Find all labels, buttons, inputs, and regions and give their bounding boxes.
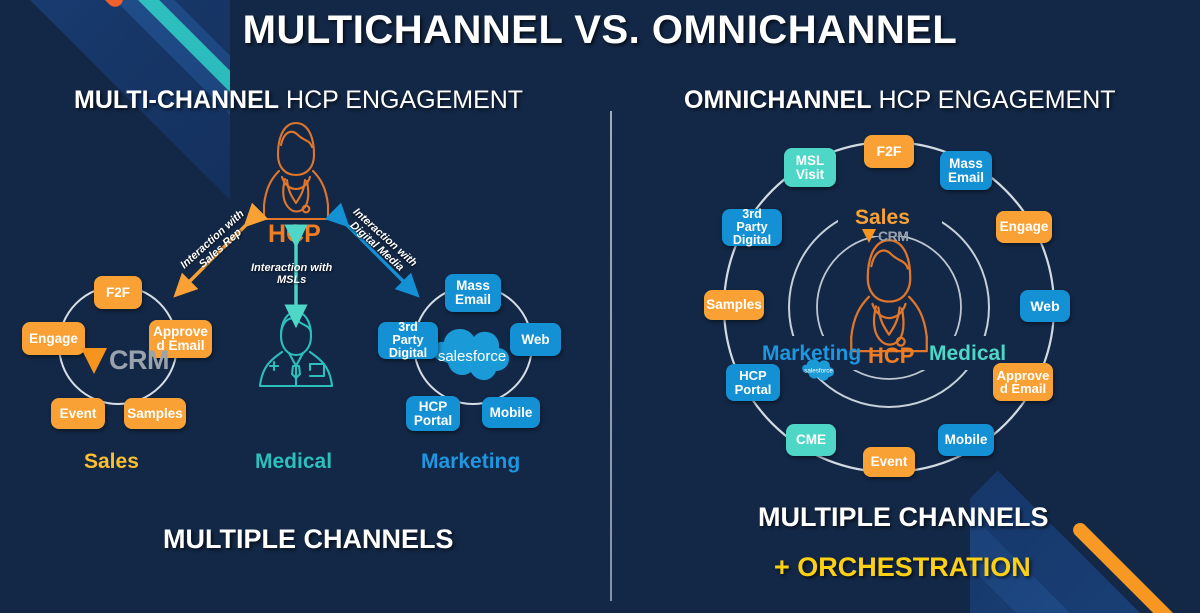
omni-badge-f2f[interactable]: F2F bbox=[864, 135, 914, 168]
left-heading-light: HCP ENGAGEMENT bbox=[279, 86, 523, 114]
veeva-v-mark-icon bbox=[81, 348, 107, 374]
omni-badge-approved-email[interactable]: Approve d Email bbox=[993, 363, 1053, 401]
salesforce-wordmark: salesforce bbox=[804, 368, 833, 375]
right-bottom-statement-line2: + ORCHESTRATION bbox=[774, 552, 1031, 583]
slide-canvas: MULTICHANNEL VS. OMNICHANNEL MULTI-CHANN… bbox=[0, 0, 1200, 613]
panel-divider bbox=[610, 111, 612, 601]
badge-marketing-mobile[interactable]: Mobile bbox=[482, 397, 540, 428]
veeva-crm-logo: CRM bbox=[862, 228, 908, 244]
badge-sales-samples[interactable]: Samples bbox=[124, 398, 186, 429]
badge-marketing-hcp-portal[interactable]: HCP Portal bbox=[406, 396, 460, 431]
omni-badge-cme[interactable]: CME bbox=[786, 424, 836, 456]
female-doctor-outline-icon bbox=[851, 240, 927, 351]
omni-badge-mass-email[interactable]: Mass Email bbox=[940, 151, 992, 190]
female-doctor-outline-icon bbox=[264, 123, 328, 219]
omni-badge-mobile[interactable]: Mobile bbox=[938, 424, 994, 456]
badge-sales-f2f[interactable]: F2F bbox=[94, 276, 142, 309]
veeva-v-mark-icon bbox=[862, 229, 876, 243]
right-heading-strong: OMNICHANNEL bbox=[684, 86, 872, 114]
badge-sales-engage[interactable]: Engage bbox=[22, 322, 85, 355]
right-medical-label: Medical bbox=[929, 342, 1006, 366]
caption-medical: Medical bbox=[255, 450, 332, 474]
caption-sales: Sales bbox=[84, 450, 139, 474]
right-panel-heading: OMNICHANNEL HCP ENGAGEMENT bbox=[684, 86, 1116, 115]
badge-marketing-3rd-party-digital[interactable]: 3rd Party Digital bbox=[378, 322, 438, 359]
omni-badge-3rd-party-digital[interactable]: 3rd Party Digital bbox=[722, 209, 782, 246]
right-bottom-statement-line1: MULTIPLE CHANNELS bbox=[758, 502, 1049, 533]
left-panel-heading: MULTI-CHANNEL HCP ENGAGEMENT bbox=[74, 86, 523, 115]
omni-badge-event[interactable]: Event bbox=[863, 447, 915, 477]
left-heading-strong: MULTI-CHANNEL bbox=[74, 86, 279, 114]
badge-sales-event[interactable]: Event bbox=[51, 398, 105, 429]
badge-marketing-web[interactable]: Web bbox=[510, 323, 561, 356]
outer-connector-ring bbox=[724, 142, 1054, 472]
omni-badge-engage[interactable]: Engage bbox=[996, 211, 1052, 243]
male-msl-outline-icon bbox=[260, 312, 332, 386]
omni-badge-hcp-portal[interactable]: HCP Portal bbox=[726, 364, 780, 401]
arrow-label-sales-rep: Interaction with Sales Rep bbox=[178, 208, 255, 281]
right-heading-light: HCP ENGAGEMENT bbox=[872, 86, 1116, 114]
badge-marketing-mass-email[interactable]: Mass Email bbox=[445, 274, 501, 312]
veeva-crm-text: CRM bbox=[109, 345, 169, 376]
omni-badge-msl-visit[interactable]: MSL Visit bbox=[784, 148, 836, 187]
omni-badge-samples[interactable]: Samples bbox=[704, 290, 764, 320]
arrow-label-msls: Interaction with MSLs bbox=[251, 262, 332, 287]
veeva-crm-text: CRM bbox=[878, 228, 908, 244]
left-hcp-label: HCP bbox=[268, 220, 321, 249]
arrow-label-digital-media: Interaction with Digital Media bbox=[342, 206, 419, 279]
right-hcp-label: HCP bbox=[868, 343, 914, 369]
left-bottom-statement: MULTIPLE CHANNELS bbox=[163, 524, 454, 555]
caption-marketing: Marketing bbox=[421, 450, 520, 474]
omni-badge-web[interactable]: Web bbox=[1020, 290, 1070, 322]
page-title: MULTICHANNEL VS. OMNICHANNEL bbox=[0, 8, 1200, 53]
right-sales-label: Sales bbox=[855, 206, 910, 230]
veeva-crm-logo: CRM bbox=[81, 345, 169, 376]
right-marketing-label: Marketing bbox=[762, 342, 861, 366]
